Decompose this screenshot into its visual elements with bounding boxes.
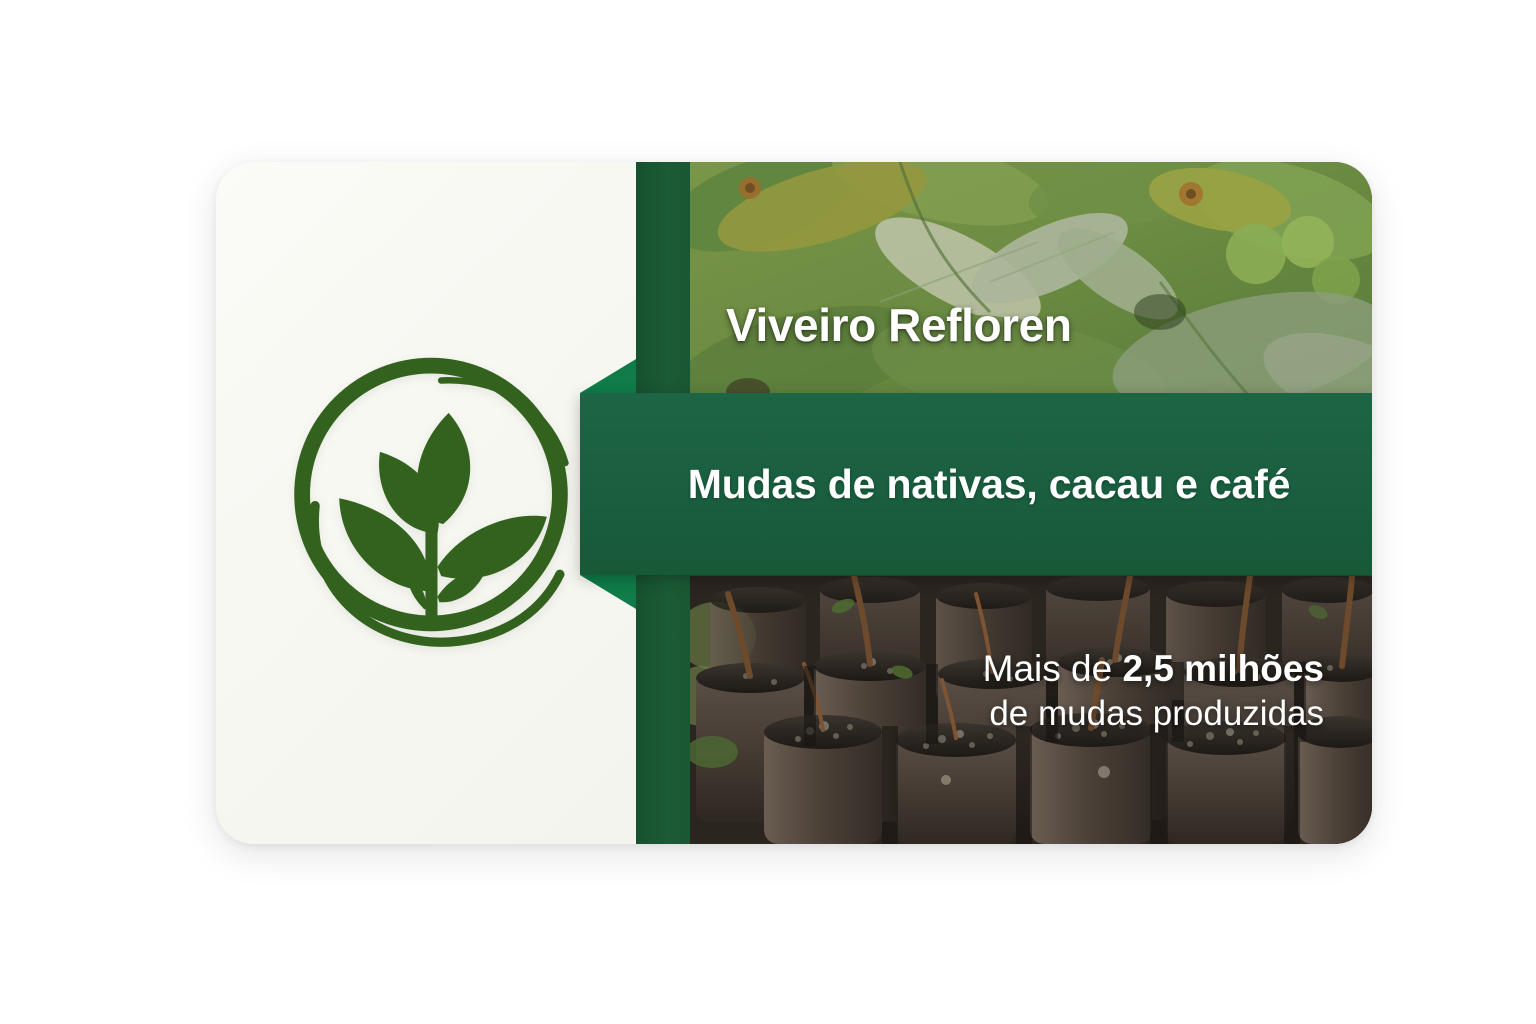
stat-caption: de mudas produzidas bbox=[983, 691, 1324, 737]
ribbon-body: Mudas de nativas, cacau e café bbox=[580, 393, 1372, 575]
page-title: Viveiro Refloren bbox=[726, 302, 1072, 348]
logo-panel bbox=[216, 162, 636, 844]
viveiro-info-card: Viveiro Refloren Mais de 2,5 milhões de … bbox=[216, 162, 1372, 844]
page-canvas: Viveiro Refloren Mais de 2,5 milhões de … bbox=[0, 0, 1536, 1024]
stat-primary-line: Mais de 2,5 milhões bbox=[983, 647, 1324, 691]
production-stat: Mais de 2,5 milhões de mudas produzidas bbox=[983, 647, 1324, 736]
ribbon-label: Mudas de nativas, cacau e café bbox=[662, 461, 1290, 508]
card-title-wrap: Viveiro Refloren bbox=[726, 302, 1072, 348]
stat-number: 2,5 milhões bbox=[1122, 648, 1324, 689]
seedling-in-circle-logo bbox=[278, 348, 584, 654]
stat-prefix: Mais de bbox=[983, 648, 1123, 689]
top-photo-leaves bbox=[690, 162, 1372, 402]
services-ribbon: Mudas de nativas, cacau e café bbox=[580, 393, 1372, 575]
